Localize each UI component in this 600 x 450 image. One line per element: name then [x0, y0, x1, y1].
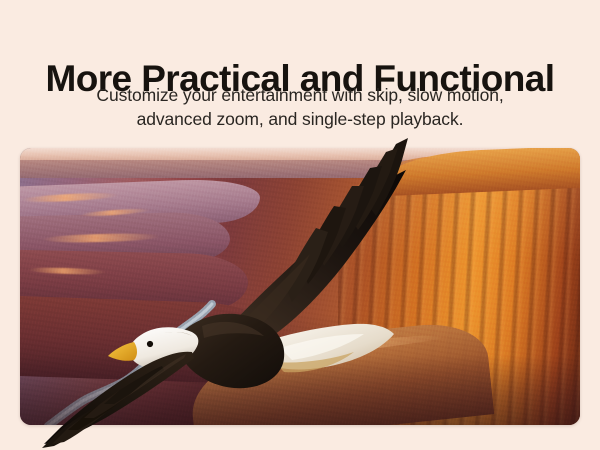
rock-texture [20, 148, 580, 425]
promo-banner: More Practical and Functional Customize … [0, 0, 600, 450]
subtitle-line-2: advanced zoom, and single-step playback. [0, 107, 600, 131]
hero-photo [20, 148, 580, 425]
subtitle: Customize your entertainment with skip, … [0, 83, 600, 131]
subtitle-line-1: Customize your entertainment with skip, … [0, 83, 600, 107]
